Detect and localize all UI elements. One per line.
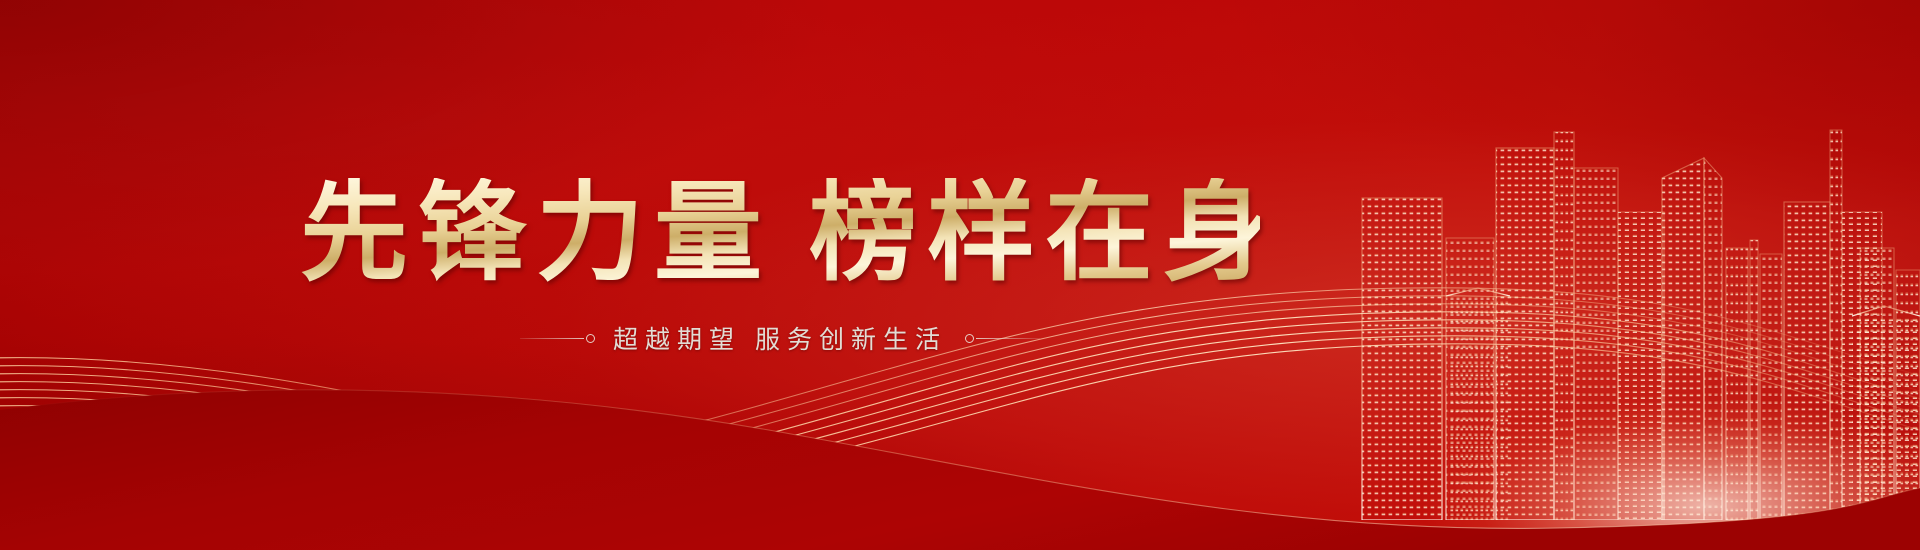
building <box>1726 222 1782 520</box>
building <box>1784 130 1882 520</box>
promotional-banner: 先锋力量 榜样在身边 超越期望 服务创新生活 <box>0 0 1920 550</box>
ornament-line-left-icon <box>520 338 584 339</box>
page-title: 先锋力量 榜样在身边 <box>300 178 1260 291</box>
building <box>1852 248 1920 520</box>
red-sweep-shape <box>0 390 1920 550</box>
vignette-overlay <box>0 0 1920 550</box>
city-skyline-graphic <box>1360 120 1920 520</box>
gold-wave-lines-left <box>0 320 900 550</box>
banner-content: 先锋力量 榜样在身边 超越期望 服务创新生活 <box>0 0 1920 550</box>
building <box>1662 138 1722 520</box>
ornament-dot-left-icon <box>586 334 595 343</box>
right-ornament <box>963 334 1040 343</box>
subtitle-row: 超越期望 服务创新生活 <box>300 320 1260 356</box>
ornament-line-right-icon <box>976 338 1040 339</box>
building <box>1496 132 1618 520</box>
foreground-wave-sweep <box>0 290 1920 550</box>
city-base-glow <box>1420 310 1920 540</box>
ornament-dot-right-icon <box>965 334 974 343</box>
building <box>1362 198 1442 520</box>
building <box>1618 212 1664 520</box>
building <box>1446 238 1510 520</box>
subtitle-text: 超越期望 服务创新生活 <box>613 320 947 356</box>
gold-wave-lines <box>0 250 1920 550</box>
headline-container: 先锋力量 榜样在身边 <box>300 178 1260 291</box>
left-ornament <box>520 334 597 343</box>
